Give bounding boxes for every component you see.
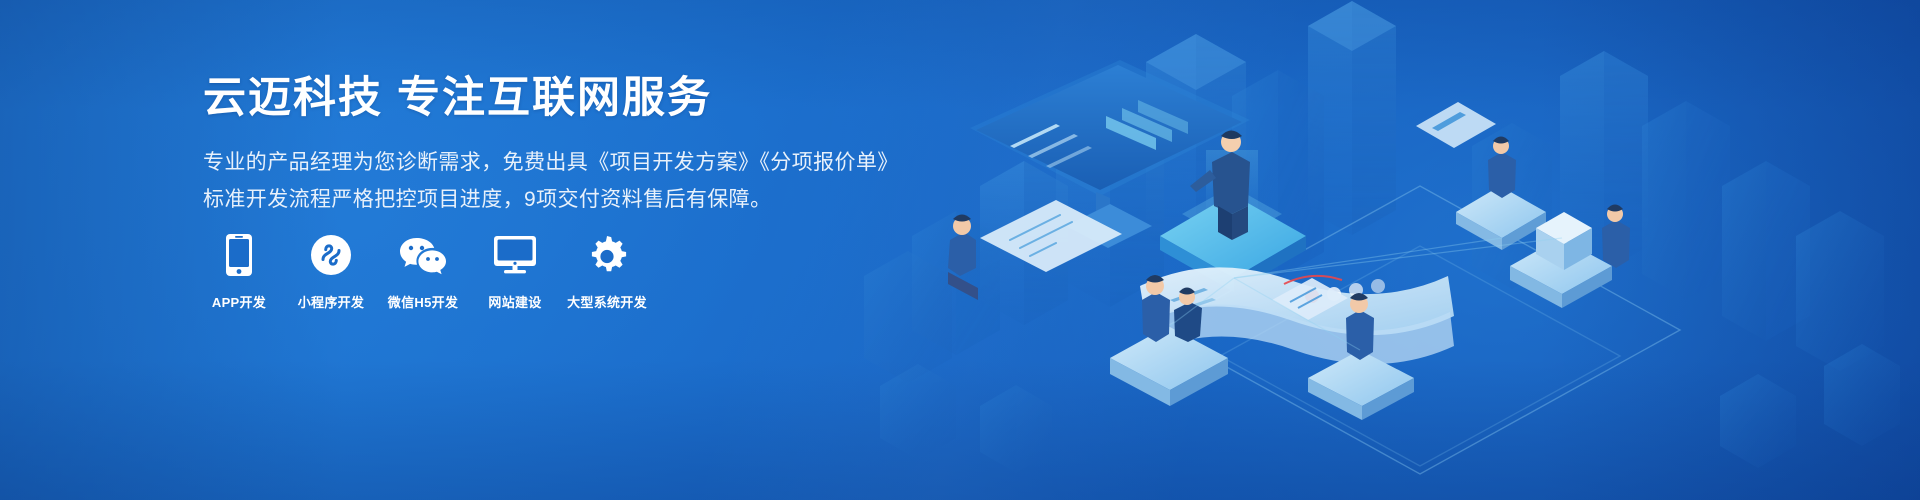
service-item-website[interactable]: 网站建设 <box>479 232 551 311</box>
mini-program-icon <box>310 232 352 278</box>
hero-subtitle-line-2: 标准开发流程严格把控项目进度，9项交付资料售后有保障。 <box>203 182 963 218</box>
service-item-mini-program[interactable]: 小程序开发 <box>295 232 367 311</box>
service-label: 小程序开发 <box>298 292 365 311</box>
page-title: 云迈科技 专注互联网服务 <box>203 74 963 123</box>
hero-text-block: 云迈科技 专注互联网服务 专业的产品经理为您诊断需求，免费出具《项目开发方案》《… <box>203 74 963 218</box>
service-item-wechat-h5[interactable]: 微信H5开发 <box>387 232 459 311</box>
service-label: 网站建设 <box>488 292 541 311</box>
wechat-icon <box>399 232 447 278</box>
service-label: 微信H5开发 <box>388 292 458 311</box>
mobile-phone-icon <box>225 232 253 278</box>
service-label: APP开发 <box>212 292 266 311</box>
service-item-large-system[interactable]: 大型系统开发 <box>571 232 643 311</box>
service-label: 大型系统开发 <box>567 292 647 311</box>
hero-subtitle-line-1: 专业的产品经理为您诊断需求，免费出具《项目开发方案》《分项报价单》 <box>203 145 963 181</box>
service-list: APP开发 小程序开发 <box>203 232 643 311</box>
monitor-icon <box>493 232 537 278</box>
gear-icon <box>586 232 628 278</box>
hero-subtitle: 专业的产品经理为您诊断需求，免费出具《项目开发方案》《分项报价单》 标准开发流程… <box>203 145 963 217</box>
isometric-tech-city-illustration <box>860 0 1920 500</box>
service-item-app[interactable]: APP开发 <box>203 232 275 311</box>
hero-banner: 云迈科技 专注互联网服务 专业的产品经理为您诊断需求，免费出具《项目开发方案》《… <box>0 0 1920 500</box>
